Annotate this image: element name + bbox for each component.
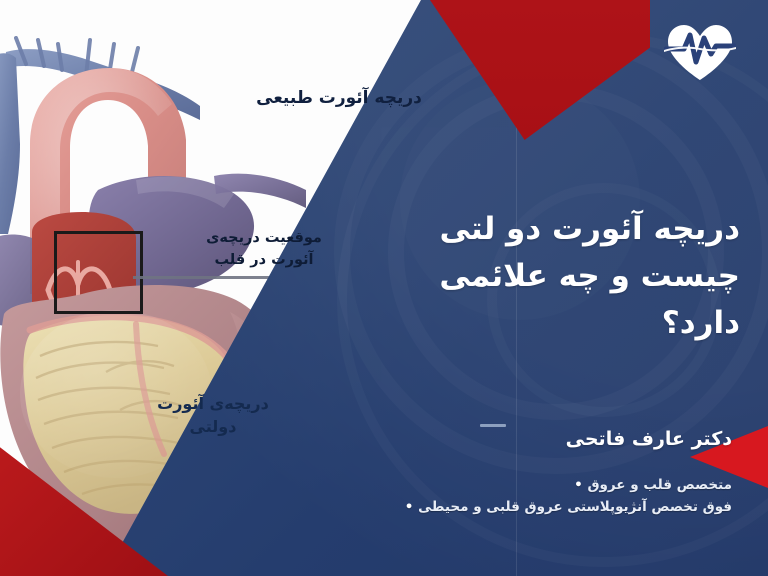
page-title: دریچه آئورت دو لتی چیست و چه علائمی دارد…: [410, 206, 740, 347]
callout-valve-position-line2: آئورت در قلب: [180, 250, 348, 272]
page-title-line-3: دارد؟: [410, 300, 740, 347]
doctor-name: دکتر عارف فاتحی: [432, 428, 732, 450]
heart-pulse-icon[interactable]: [664, 22, 736, 84]
bullet-icon-1: •: [574, 474, 583, 496]
bullet-icon-2: •: [405, 496, 414, 518]
credential-text-1: متخصص قلب و عروق: [587, 477, 732, 493]
callout-bicuspid-line2: دولتی: [138, 415, 288, 438]
valve-highlight-box: [54, 231, 143, 314]
banner-canvas: porated دریچه آئورت طبیعی موقعیت دریچه‌ی…: [0, 0, 768, 576]
credential-item-2: فوق تخصص آنژیوپلاستی عروق قلبی و محیطی •: [312, 496, 732, 518]
credential-text-2: فوق تخصص آنژیوپلاستی عروق قلبی و محیطی: [418, 499, 732, 515]
page-title-line-1: دریچه آئورت دو لتی: [410, 206, 740, 253]
callout-valve-position: موقعیت دریچه‌ی آئورت در قلب: [180, 228, 348, 272]
callout-valve-position-line1: موقعیت دریچه‌ی: [180, 228, 348, 250]
doctor-separator-tick: [480, 424, 506, 427]
callout-normal-aortic-valve: دریچه آئورت طبیعی: [234, 88, 444, 108]
doctor-credentials-list: متخصص قلب و عروق • فوق تخصص آنژیوپلاستی …: [312, 474, 732, 519]
credential-item-1: متخصص قلب و عروق •: [312, 474, 732, 496]
leader-line-valve: [133, 276, 285, 279]
callout-bicuspid-valve: دریچه‌ی آئورت دولتی: [138, 392, 288, 438]
callout-bicuspid-line1: دریچه‌ی آئورت: [138, 392, 288, 415]
page-title-line-2: چیست و چه علائمی: [410, 253, 740, 300]
